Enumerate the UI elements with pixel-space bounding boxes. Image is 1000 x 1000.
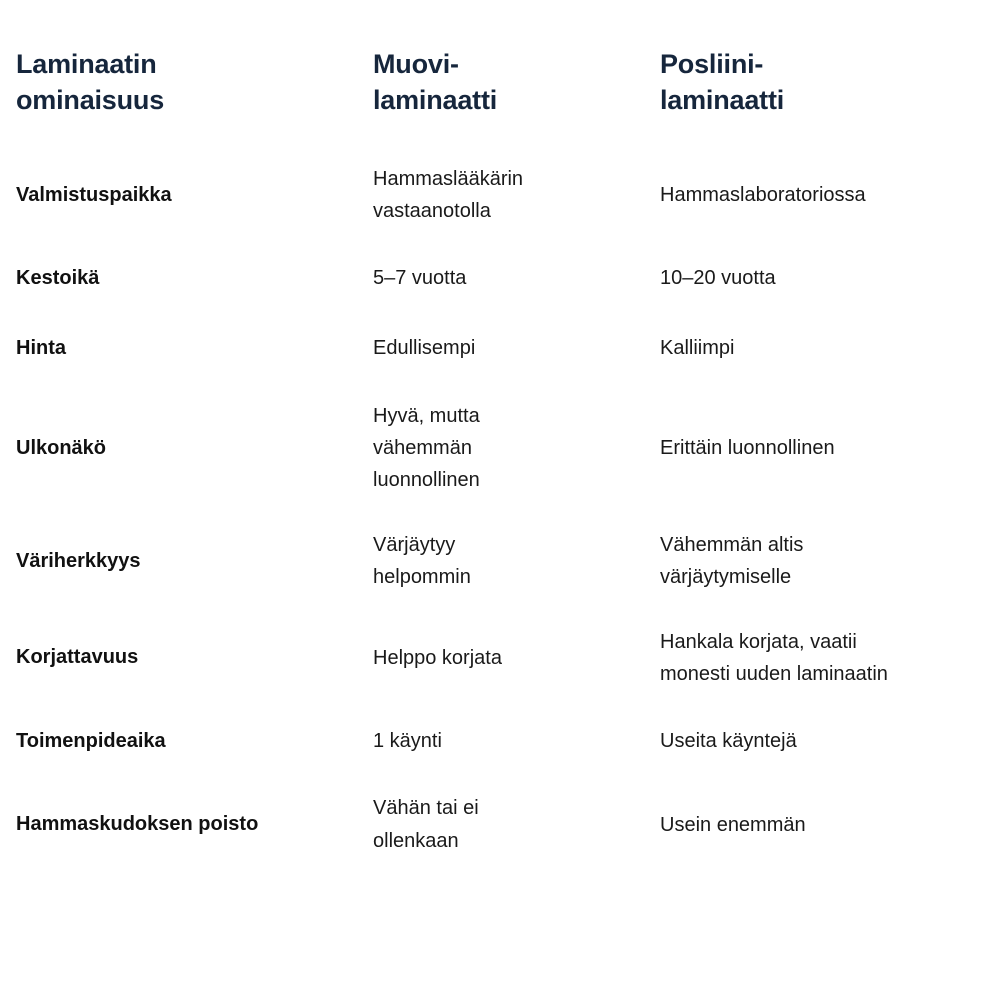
row-value-porcelain: Hankala korjata, vaatii monesti uuden la… <box>660 610 984 707</box>
row-value-porcelain: Kalliimpi <box>660 314 984 384</box>
table-row: Väriherkkyys Värjäytyy helpommin Vähemmä… <box>16 513 984 610</box>
row-feature-label: Väriherkkyys <box>16 513 373 610</box>
table-row: Hinta Edullisempi Kalliimpi <box>16 314 984 384</box>
table-body: Valmistuspaikka Hammaslääkärin vastaanot… <box>16 147 984 873</box>
row-feature-label: Hammaskudoksen poisto <box>16 776 373 873</box>
laminate-comparison-table: Laminaatin ominaisuus Muovi- laminaatti … <box>16 0 984 873</box>
column-header-porcelain: Posliini- laminaatti <box>660 0 984 147</box>
row-value-plastic: Värjäytyy helpommin <box>373 513 660 610</box>
table-row: Kestoikä 5–7 vuotta 10–20 vuotta <box>16 244 984 314</box>
row-feature-label: Ulkonäkö <box>16 384 373 513</box>
table-header-row: Laminaatin ominaisuus Muovi- laminaatti … <box>16 0 984 147</box>
table-row: Ulkonäkö Hyvä, mutta vähemmän luonnollin… <box>16 384 984 513</box>
row-value-plastic: Edullisempi <box>373 314 660 384</box>
row-value-porcelain: 10–20 vuotta <box>660 244 984 314</box>
comparison-table-container: Laminaatin ominaisuus Muovi- laminaatti … <box>0 0 1000 1000</box>
row-value-plastic: Hyvä, mutta vähemmän luonnollinen <box>373 384 660 513</box>
table-header: Laminaatin ominaisuus Muovi- laminaatti … <box>16 0 984 147</box>
row-value-porcelain: Vähemmän altis värjäytymiselle <box>660 513 984 610</box>
row-feature-label: Kestoikä <box>16 244 373 314</box>
row-value-plastic: 5–7 vuotta <box>373 244 660 314</box>
row-feature-label: Hinta <box>16 314 373 384</box>
row-value-porcelain: Usein enemmän <box>660 776 984 873</box>
row-feature-label: Korjattavuus <box>16 610 373 707</box>
row-feature-label: Toimenpideaika <box>16 706 373 776</box>
row-value-plastic: 1 käynti <box>373 706 660 776</box>
table-row: Hammaskudoksen poisto Vähän tai ei ollen… <box>16 776 984 873</box>
table-row: Valmistuspaikka Hammaslääkärin vastaanot… <box>16 147 984 244</box>
row-value-plastic: Vähän tai ei ollenkaan <box>373 776 660 873</box>
column-header-plastic: Muovi- laminaatti <box>373 0 660 147</box>
row-value-plastic: Helppo korjata <box>373 610 660 707</box>
table-row: Toimenpideaika 1 käynti Useita käyntejä <box>16 706 984 776</box>
table-row: Korjattavuus Helppo korjata Hankala korj… <box>16 610 984 707</box>
row-feature-label: Valmistuspaikka <box>16 147 373 244</box>
column-header-feature: Laminaatin ominaisuus <box>16 0 373 147</box>
row-value-porcelain: Useita käyntejä <box>660 706 984 776</box>
row-value-porcelain: Hammaslaboratoriossa <box>660 147 984 244</box>
row-value-porcelain: Erittäin luonnollinen <box>660 384 984 513</box>
row-value-plastic: Hammaslääkärin vastaanotolla <box>373 147 660 244</box>
